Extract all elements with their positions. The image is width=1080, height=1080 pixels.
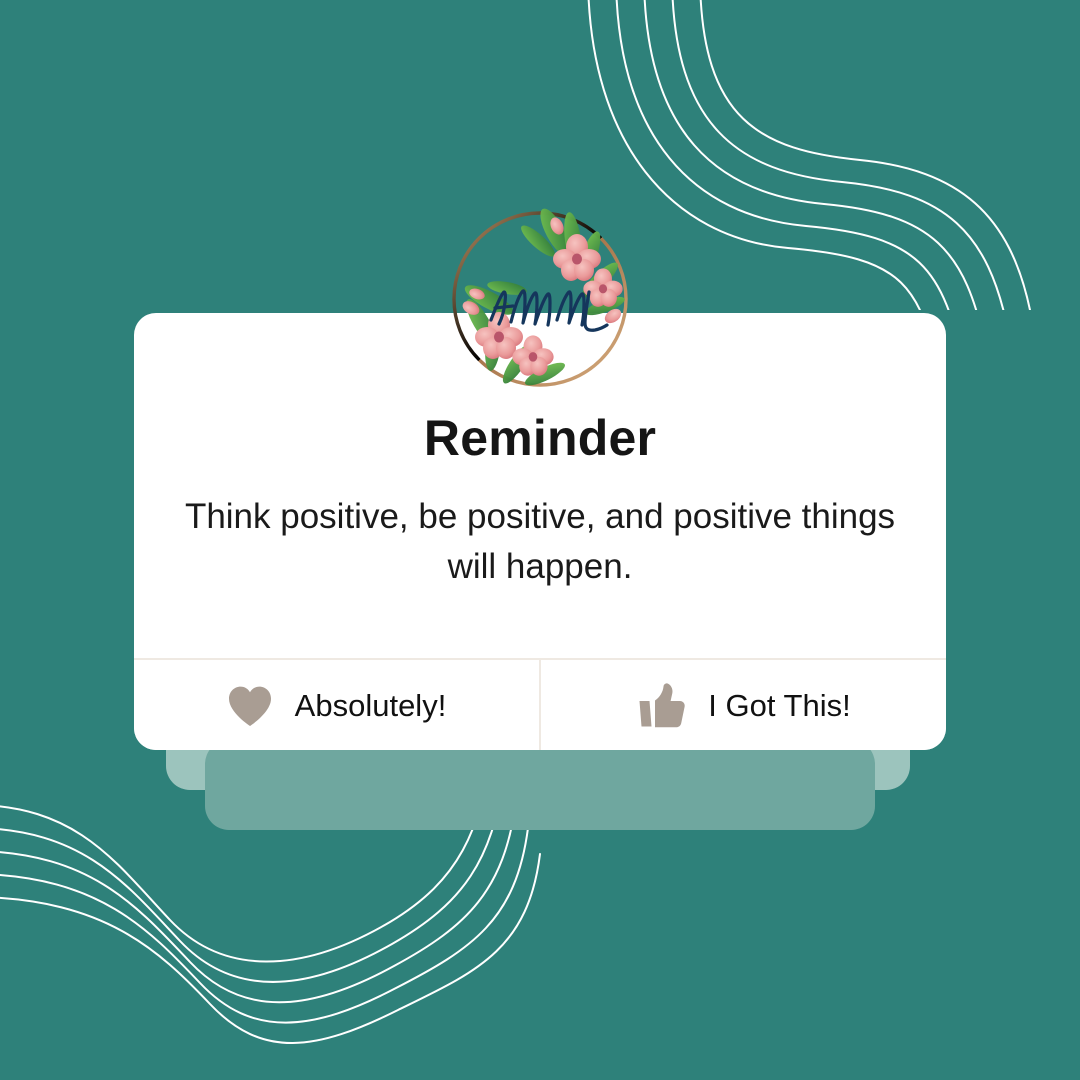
card-content: Reminder Think positive, be positive, an… — [134, 313, 946, 658]
i-got-this-button-label: I Got This! — [708, 688, 850, 724]
absolutely-button-label: Absolutely! — [295, 688, 447, 724]
card-stack-layer-back — [205, 740, 875, 830]
thumbs-up-icon — [636, 683, 686, 729]
reminder-card: Reminder Think positive, be positive, an… — [134, 313, 946, 750]
absolutely-button[interactable]: Absolutely! — [134, 660, 539, 750]
heart-icon — [227, 685, 273, 727]
reminder-card-graphic: Reminder Think positive, be positive, an… — [0, 0, 1080, 1080]
page-title: Reminder — [168, 411, 912, 466]
wave-lines-icon-top-right — [510, 0, 1080, 310]
card-action-row: Absolutely! I Got This! — [134, 658, 946, 750]
reminder-message: Think positive, be positive, and positiv… — [168, 492, 912, 591]
i-got-this-button[interactable]: I Got This! — [539, 660, 946, 750]
